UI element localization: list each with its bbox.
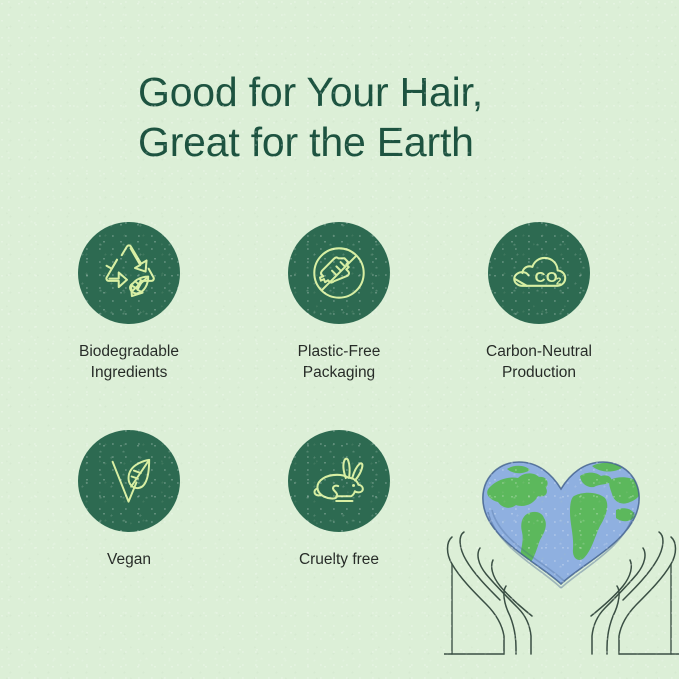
rabbit-icon	[308, 450, 370, 512]
badge-cruelty-free: Cruelty free	[271, 430, 407, 570]
recycle-leaf-icon	[98, 242, 160, 304]
earth-globe	[474, 451, 650, 596]
badge-disc: CO 2	[488, 222, 590, 324]
badge-label: Plastic-Free Packaging	[271, 341, 407, 383]
vegan-leaf-v-icon	[99, 451, 159, 511]
badge-label: Biodegradable Ingredients	[61, 341, 197, 383]
heart-earth-in-hands-illustration	[444, 436, 679, 661]
badge-label: Vegan	[61, 549, 197, 570]
badge-vegan: Vegan	[61, 430, 197, 570]
badge-label: Cruelty free	[271, 549, 407, 570]
badge-label: Carbon-Neutral Production	[471, 341, 607, 383]
badge-carbon-neutral-production: CO 2 Carbon-Neutral Production	[471, 222, 607, 383]
badge-disc	[78, 222, 180, 324]
svg-text:2: 2	[556, 276, 561, 287]
badge-biodegradable-ingredients: Biodegradable Ingredients	[61, 222, 197, 383]
badge-disc	[288, 222, 390, 324]
no-plastic-bottle-icon	[308, 242, 370, 304]
svg-text:CO: CO	[535, 269, 558, 286]
page-title: Good for Your Hair, Great for the Earth	[138, 67, 658, 167]
co2-cloud-leaf-icon: CO 2	[506, 240, 572, 306]
badge-disc	[288, 430, 390, 532]
badge-plastic-free-packaging: Plastic-Free Packaging	[271, 222, 407, 383]
sustainability-infographic: Good for Your Hair, Great for the Earth	[0, 0, 679, 679]
badge-disc	[78, 430, 180, 532]
